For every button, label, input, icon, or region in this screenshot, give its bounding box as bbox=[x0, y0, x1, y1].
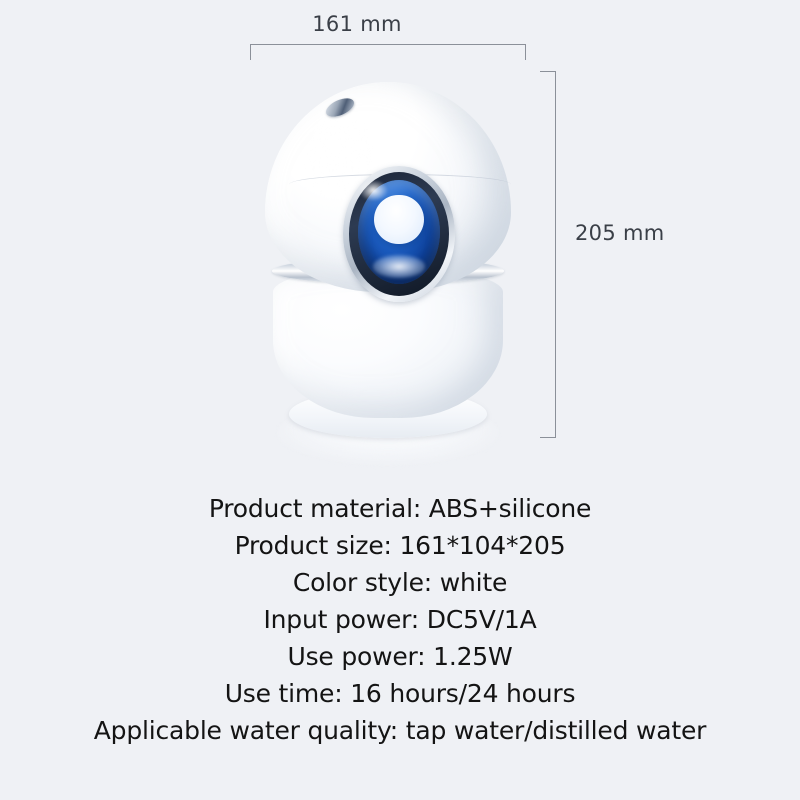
spec-line: Input power: DC5V/1A bbox=[0, 601, 800, 638]
mist-nozzle bbox=[343, 166, 455, 302]
spec-line: Product size: 161*104*205 bbox=[0, 527, 800, 564]
height-dimension-label: 205 mm bbox=[575, 221, 664, 245]
width-dimension-bracket bbox=[250, 44, 526, 60]
nozzle-inner-disc bbox=[374, 195, 423, 245]
specification-list: Product material: ABS+silicone Product s… bbox=[0, 490, 800, 749]
nozzle-reflection bbox=[373, 255, 425, 278]
spec-line: Use power: 1.25W bbox=[0, 638, 800, 675]
product-spec-sheet: 161 mm 205 mm Product mater bbox=[0, 0, 800, 800]
spec-line: Color style: white bbox=[0, 564, 800, 601]
spec-line: Applicable water quality: tap water/dist… bbox=[0, 712, 800, 749]
width-dimension-label: 161 mm bbox=[0, 12, 757, 36]
product-upper-dome bbox=[265, 82, 511, 292]
height-dimension-bracket bbox=[540, 71, 556, 438]
product-image bbox=[253, 72, 523, 442]
nozzle-specular-highlight bbox=[359, 180, 388, 202]
spec-line: Use time: 16 hours/24 hours bbox=[0, 675, 800, 712]
spec-line: Product material: ABS+silicone bbox=[0, 490, 800, 527]
